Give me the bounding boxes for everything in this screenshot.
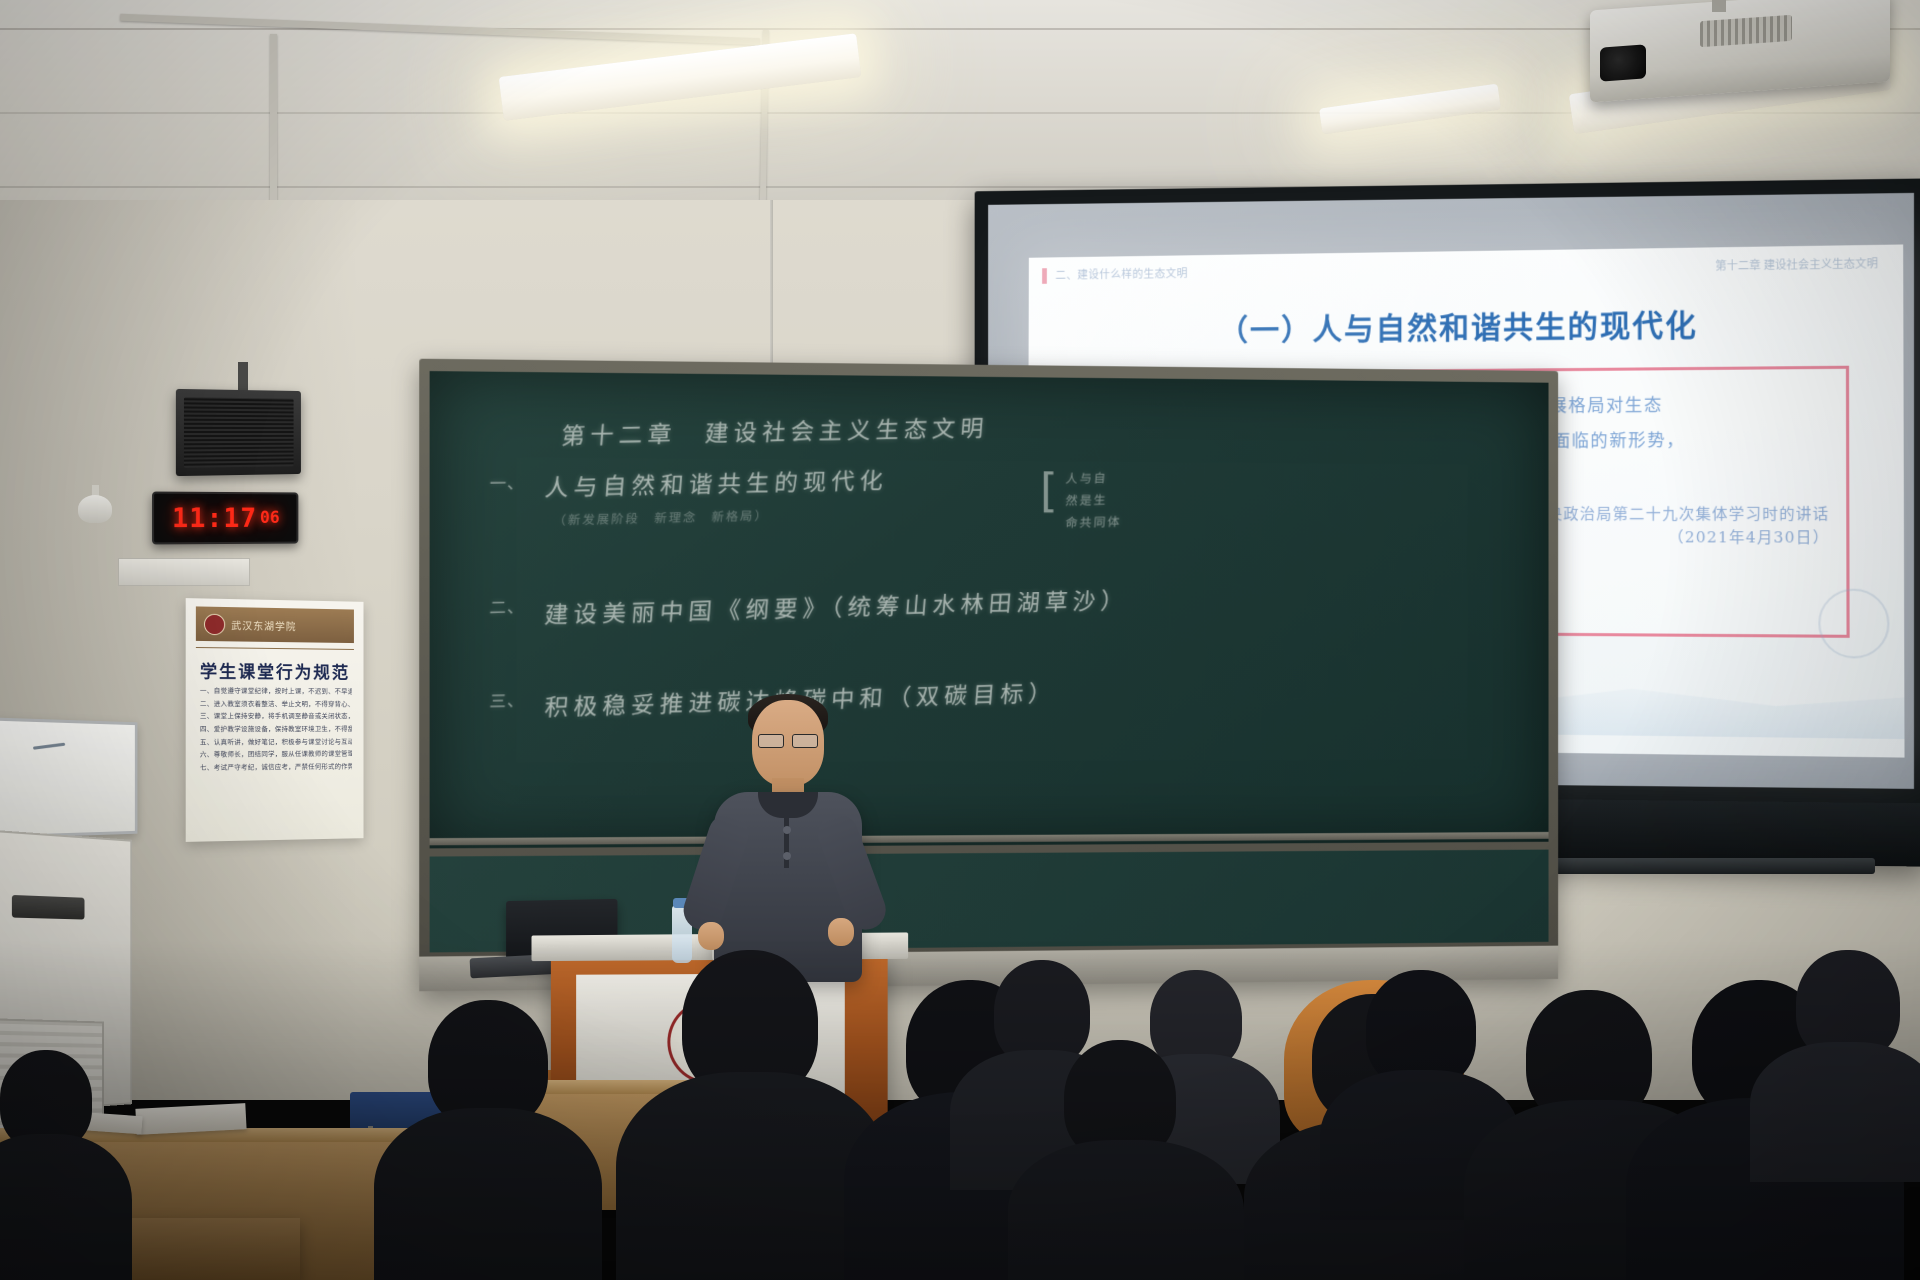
poster-rule-item: 四、爱护教学设施设备，保持教室环境卫生，不得乱扔杂物。 xyxy=(200,724,352,737)
glasses-lens xyxy=(792,734,818,748)
projector-lens-icon xyxy=(1600,44,1646,81)
classroom-rules-poster: 武汉东湖学院 学生课堂行为规范 一、自觉遵守课堂纪律，按时上课，不迟到、不早退、… xyxy=(186,598,364,842)
instructor-hand-left xyxy=(698,922,724,950)
poster-header-band: 武汉东湖学院 xyxy=(196,606,354,643)
wall-speaker xyxy=(176,389,301,476)
cabinet-handle xyxy=(12,895,85,920)
wall-junction-plate xyxy=(118,558,250,586)
chalkboard: 第十二章 建设社会主义生态文明 一、 人与自然和谐共生的现代化 [ 人与自 然是… xyxy=(419,359,1558,992)
chalkboard-surface: 第十二章 建设社会主义生态文明 一、 人与自然和谐共生的现代化 [ 人与自 然是… xyxy=(430,371,1549,848)
poster-body: 一、自觉遵守课堂纪律，按时上课，不迟到、不早退、不旷课。 二、进入教室须衣着整洁… xyxy=(200,686,352,776)
glasses-lens xyxy=(758,734,784,748)
student-body xyxy=(0,1134,132,1280)
chalk-marker: 三、 xyxy=(489,687,526,712)
poster-rule-item: 六、尊敬师长，团结同学，服从任课教师的课堂管理。 xyxy=(200,749,352,763)
chalk-note: 命共同体 xyxy=(1065,513,1122,531)
slide-breadcrumb-right: 第十二章 建设社会主义生态文明 xyxy=(1715,255,1878,274)
chalk-line: 第十二章 建设社会主义生态文明 xyxy=(560,409,990,451)
clock-seconds: 06 xyxy=(260,510,280,527)
student-silhouette xyxy=(0,1050,120,1280)
poster-rule-item: 三、课堂上保持安静，将手机调至静音或关闭状态，不得接打电话。 xyxy=(200,711,352,724)
student-silhouette xyxy=(630,950,870,1280)
student-body xyxy=(374,1108,602,1280)
instructor-button xyxy=(783,852,791,860)
chalk-marker: 二、 xyxy=(489,593,526,618)
chalk-marker: 一、 xyxy=(489,469,526,494)
poster-rule-item: 七、考试严守考纪，诚信应考，严禁任何形式的作弊行为。 xyxy=(200,761,352,775)
chalk-note: 人与自 xyxy=(1065,469,1108,487)
led-wall-clock: 11:1706 xyxy=(152,492,298,545)
poster-title: 学生课堂行为规范 xyxy=(186,657,364,684)
whiteboard-marking xyxy=(33,743,65,750)
poster-rule-item: 二、进入教室须衣着整洁、举止文明，不得穿背心、拖鞋进入教室。 xyxy=(200,698,352,711)
poster-rule-item: 一、自觉遵守课堂纪律，按时上课，不迟到、不早退、不旷课。 xyxy=(200,686,352,699)
student-silhouette xyxy=(380,1000,590,1280)
slide-header: 二、建设什么样的生态文明 第十二章 建设社会主义生态文明 xyxy=(1029,244,1903,290)
slide-watermark-icon xyxy=(1818,589,1889,659)
projector-mount xyxy=(1712,0,1726,12)
chalk-bracket: [ xyxy=(1040,463,1058,517)
instructor xyxy=(700,700,870,980)
classroom-photo: 二、建设什么样的生态文明 第十二章 建设社会主义生态文明 （一）人与自然和谐共生… xyxy=(0,0,1920,1280)
speaker-grill-icon xyxy=(184,397,294,468)
ceiling-camera-icon xyxy=(78,495,112,523)
chalk-line: 建设美丽中国《纲要》（统筹山水林田湖草沙） xyxy=(543,581,1129,630)
chalk-note: （新发展阶段 新理念 新格局） xyxy=(553,507,770,529)
chalk-note: 然是生 xyxy=(1065,491,1108,509)
student-silhouette xyxy=(1020,1040,1230,1280)
student-body xyxy=(1008,1140,1244,1280)
side-whiteboard xyxy=(0,717,137,838)
poster-rule-item: 五、认真听讲，做好笔记，积极参与课堂讨论与互动交流。 xyxy=(200,736,352,749)
instructor-button xyxy=(783,826,791,834)
instructor-glasses-icon xyxy=(758,734,818,746)
student-silhouette xyxy=(1760,950,1920,1140)
clock-time: 11:17 xyxy=(172,504,257,531)
slide-title: （一）人与自然和谐共生的现代化 xyxy=(1029,298,1904,352)
poster-org-name: 武汉东湖学院 xyxy=(231,617,296,633)
slide-accent-tick xyxy=(1042,268,1047,284)
chalk-line: 人与自然和谐共生的现代化 xyxy=(544,461,890,502)
slide-breadcrumb-left: 二、建设什么样的生态文明 xyxy=(1055,265,1187,283)
student-body xyxy=(1750,1042,1920,1182)
university-seal-icon xyxy=(204,613,225,635)
poster-divider xyxy=(196,647,354,650)
instructor-hand-right xyxy=(828,918,854,946)
